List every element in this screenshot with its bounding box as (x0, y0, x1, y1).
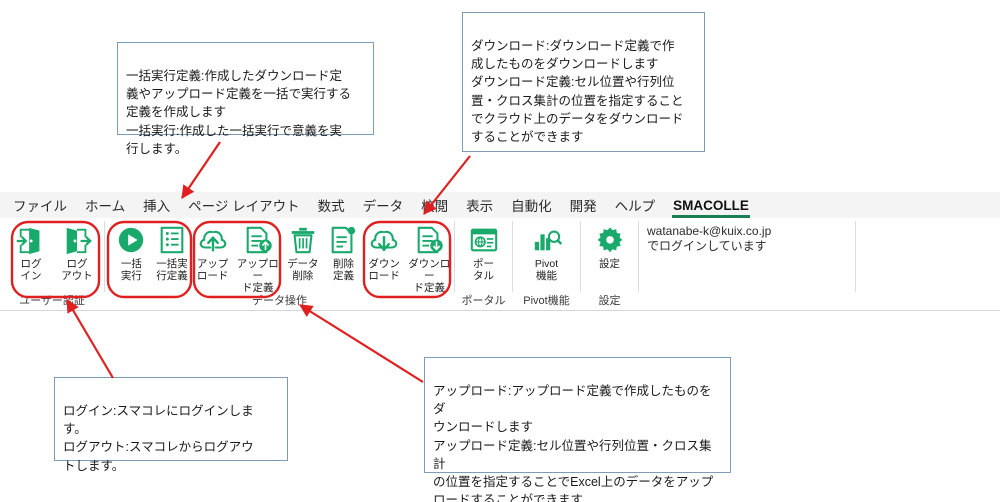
tab-review[interactable]: 校閲 (412, 193, 457, 217)
tab-insert[interactable]: 挿入 (134, 193, 179, 217)
ribbon-button-label: ダウン ロード (368, 258, 400, 282)
annotation-callout-login: ログイン:スマコレにログインしま す。 ログアウト:スマコレからログアウ トしま… (54, 377, 288, 461)
tab-label: 開発 (570, 199, 597, 214)
ribbon-group-label-settings: 設定 (581, 292, 638, 310)
ribbon-button-delete-def[interactable]: 削除 定義 (323, 222, 364, 282)
annotation-callout-download: ダウンロード:ダウンロード定義で作 成したものをダウンロードします ダウンロード… (462, 12, 705, 152)
ribbon-button-label: Pivot 機能 (535, 258, 558, 282)
trash-icon (287, 224, 319, 256)
document-dot-icon (327, 224, 359, 256)
annotation-text: アップロード:アップロード定義で作成したものをダ ウンロードします アップロード… (433, 382, 722, 502)
ribbon-button-logout[interactable]: ログ アウト (54, 222, 100, 282)
cloud-download-icon (368, 224, 400, 256)
ribbon-button-label: データ 削除 (287, 258, 319, 282)
annotation-callout-batch: 一括実行定義:作成したダウンロード定 義やアップロード定義を一括で実行する 定義… (117, 42, 374, 135)
tab-developer[interactable]: 開発 (561, 193, 606, 217)
tab-formulas[interactable]: 数式 (309, 193, 354, 217)
ribbon-button-settings[interactable]: 設定 (587, 222, 633, 270)
tab-automate[interactable]: 自動化 (502, 193, 561, 217)
annotation-callout-upload: アップロード:アップロード定義で作成したものをダ ウンロードします アップロード… (424, 357, 731, 473)
ribbon-button-pivot[interactable]: Pivot 機能 (524, 222, 570, 282)
ribbon-group-pivot: Pivot 機能 Pivot機能 (513, 218, 580, 310)
screenshot-root: 一括実行定義:作成したダウンロード定 義やアップロード定義を一括で実行する 定義… (0, 0, 1000, 502)
annotation-text: ダウンロード:ダウンロード定義で作 成したものをダウンロードします ダウンロード… (471, 37, 696, 146)
ribbon-button-label: ダウンロー ド定義 (406, 258, 453, 294)
group-items: 一括 実行 一括実 行定義 (105, 218, 454, 286)
ribbon-button-portal[interactable]: ポー タル (461, 222, 507, 282)
tab-label: 数式 (318, 199, 345, 214)
play-circle-icon (115, 224, 147, 256)
tab-file[interactable]: ファイル (4, 193, 76, 217)
tab-smacolle[interactable]: SMACOLLE (664, 196, 758, 215)
ribbon-button-label: ログ イン (21, 258, 42, 282)
ribbon-button-label: 一括 実行 (121, 258, 142, 282)
ribbon-button-batch-run[interactable]: 一括 実行 (111, 222, 152, 282)
ribbon-button-download-def[interactable]: ダウンロー ド定義 (405, 222, 454, 294)
tab-page-layout[interactable]: ページ レイアウト (179, 193, 308, 217)
group-divider (855, 221, 856, 292)
tab-label: 挿入 (143, 199, 170, 214)
ribbon-group-label-portal: ポータル (455, 292, 512, 310)
ribbon-button-label: 削除 定義 (333, 258, 354, 282)
ribbon-group-label-user-auth: ユーザー認証 (0, 292, 104, 310)
ribbon-group-user-auth: ログ イン ログ アウト ユーザー認証 (0, 218, 104, 310)
ribbon-button-batch-run-def[interactable]: 一括実 行定義 (152, 222, 193, 282)
group-items: ポー タル (455, 218, 512, 286)
ribbon-button-label: ログ アウト (61, 258, 93, 282)
tab-label: 自動化 (511, 199, 552, 214)
ribbon-button-label: 一括実 行定義 (156, 258, 188, 282)
tab-help[interactable]: ヘルプ (606, 193, 665, 217)
annotation-text: ログイン:スマコレにログインしま す。 ログアウト:スマコレからログアウ トしま… (63, 402, 279, 475)
tab-label: 校閲 (421, 199, 448, 214)
logout-door-icon (61, 224, 93, 256)
login-door-icon (15, 224, 47, 256)
tab-home[interactable]: ホーム (76, 193, 134, 217)
group-items: ログ イン ログ アウト (0, 218, 104, 286)
tab-label: 表示 (466, 199, 493, 214)
pivot-chart-icon (531, 224, 563, 256)
ribbon-button-upload-def[interactable]: アップロー ド定義 (233, 222, 282, 294)
ribbon-body: ログ イン ログ アウト ユーザー認証 (0, 218, 1000, 311)
ribbon-group-label-pivot: Pivot機能 (513, 292, 580, 310)
tab-label: ホーム (85, 199, 125, 214)
ribbon-tab-bar: ファイル ホーム 挿入 ページ レイアウト 数式 データ 校閲 表示 自動化 開… (0, 192, 1000, 218)
tab-label: ページ レイアウト (188, 199, 299, 214)
ribbon-button-label: ポー タル (473, 258, 494, 282)
group-items: Pivot 機能 (513, 218, 580, 286)
ribbon-button-label: 設定 (599, 258, 620, 270)
ribbon-group-portal: ポー タル ポータル (455, 218, 512, 310)
tab-data[interactable]: データ (354, 193, 413, 217)
ribbon-button-label: アップロー ド定義 (234, 258, 281, 294)
ribbon-button-label: アップ ロード (197, 258, 229, 282)
cloud-upload-icon (197, 224, 229, 256)
ribbon-group-data-operation: 一括 実行 一括実 行定義 (105, 218, 454, 310)
group-items: 設定 (581, 218, 638, 286)
tab-label: ファイル (13, 199, 67, 214)
arrow-upload (300, 305, 423, 382)
tab-label: SMACOLLE (673, 198, 749, 213)
tab-label: データ (363, 199, 404, 214)
tab-view[interactable]: 表示 (457, 193, 502, 217)
portal-browser-icon (468, 224, 500, 256)
document-upload-icon (242, 224, 274, 256)
ribbon-group-label-data-operation: データ操作 (105, 292, 454, 310)
ribbon-button-download[interactable]: ダウン ロード (364, 222, 405, 282)
ribbon-group-settings: 設定 設定 (581, 218, 638, 310)
list-document-icon (156, 224, 188, 256)
arrow-login (67, 300, 113, 378)
ribbon-button-login[interactable]: ログ イン (8, 222, 54, 282)
document-download-icon (413, 224, 445, 256)
ribbon-button-upload[interactable]: アップ ロード (192, 222, 233, 282)
tab-label: ヘルプ (615, 199, 656, 214)
gear-icon (594, 224, 626, 256)
annotation-text: 一括実行定義:作成したダウンロード定 義やアップロード定義を一括で実行する 定義… (126, 67, 365, 158)
login-status-text: watanabe-k@kuix.co.jp でログインしています (639, 218, 847, 254)
ribbon-button-data-delete[interactable]: データ 削除 (282, 222, 323, 282)
